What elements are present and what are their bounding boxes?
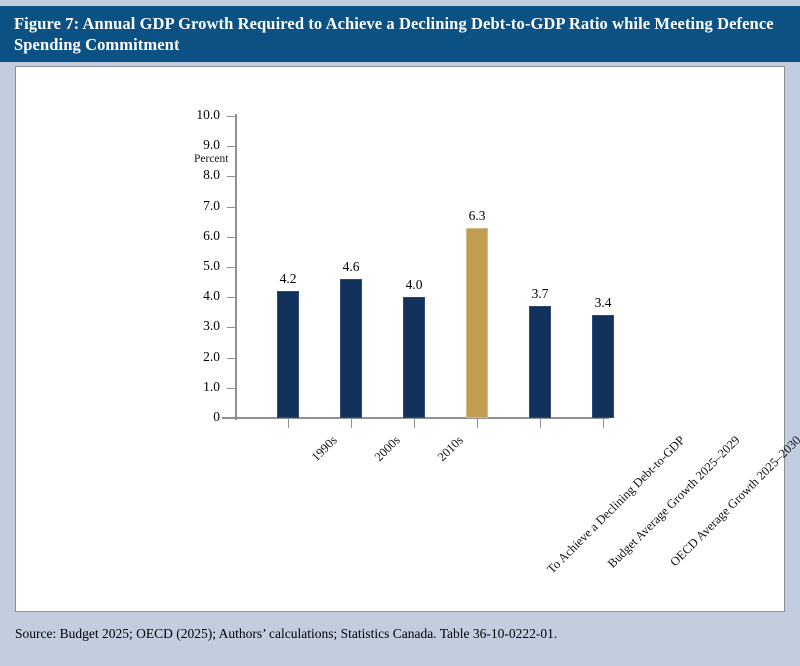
y-axis-tick xyxy=(227,358,235,359)
y-axis-tick-label: 3.0 xyxy=(168,318,220,334)
y-axis-tick-label: 7.0 xyxy=(168,198,220,214)
bar-value-label: 4.6 xyxy=(321,259,381,275)
y-axis-tick xyxy=(227,207,235,208)
y-axis-tick xyxy=(227,146,235,147)
y-axis-tick xyxy=(227,418,235,419)
x-axis-category-label: 1990s xyxy=(309,433,341,465)
x-axis-category-label: 2010s xyxy=(435,433,467,465)
y-axis-tick xyxy=(227,116,235,117)
y-axis-tick xyxy=(227,267,235,268)
y-axis-tick-label: 10.0 xyxy=(168,107,220,123)
y-axis-tick xyxy=(227,388,235,389)
bar xyxy=(277,291,299,418)
bar-value-label: 4.0 xyxy=(384,277,444,293)
plot-area: Percent 01.02.03.04.05.06.07.08.09.010.0… xyxy=(16,67,784,611)
y-axis-tick-label: 4.0 xyxy=(168,288,220,304)
bar-value-label: 3.4 xyxy=(573,295,633,311)
x-axis-category-label: 2000s xyxy=(372,433,404,465)
y-axis-tick xyxy=(227,237,235,238)
figure-container: Figure 7: Annual GDP Growth Required to … xyxy=(0,0,800,666)
y-axis-tick-label: 1.0 xyxy=(168,379,220,395)
x-axis-tick xyxy=(288,419,289,428)
y-axis-tick xyxy=(227,176,235,177)
y-axis-tick-label: 9.0 xyxy=(168,137,220,153)
x-axis-tick xyxy=(603,419,604,428)
y-axis-line xyxy=(235,114,237,420)
chart-panel: Percent 01.02.03.04.05.06.07.08.09.010.0… xyxy=(15,66,785,612)
bar xyxy=(403,297,425,418)
source-note: Source: Budget 2025; OECD (2025); Author… xyxy=(15,626,557,642)
bar-value-label: 4.2 xyxy=(258,271,318,287)
y-axis-tick-label: 8.0 xyxy=(168,167,220,183)
y-axis-tick xyxy=(227,297,235,298)
source-band: Source: Budget 2025; OECD (2025); Author… xyxy=(0,617,800,658)
y-axis-tick-label: 2.0 xyxy=(168,349,220,365)
x-axis-tick xyxy=(351,419,352,428)
bar-value-label: 3.7 xyxy=(510,286,570,302)
figure-title-band: Figure 7: Annual GDP Growth Required to … xyxy=(0,6,800,62)
x-axis-tick xyxy=(477,419,478,428)
bar xyxy=(529,306,551,418)
bar xyxy=(592,315,614,418)
x-axis-tick xyxy=(414,419,415,428)
y-axis-tick xyxy=(227,327,235,328)
y-axis-tick-label: 5.0 xyxy=(168,258,220,274)
x-axis-tick xyxy=(540,419,541,428)
y-axis-tick-label: 6.0 xyxy=(168,228,220,244)
y-axis-tick-label: 0 xyxy=(168,409,220,425)
bar xyxy=(466,228,488,418)
figure-title: Figure 7: Annual GDP Growth Required to … xyxy=(14,13,786,55)
bar xyxy=(340,279,362,418)
x-axis-category-label: OECD Average Growth 2025–2030 xyxy=(667,433,800,570)
y-axis-unit-label: Percent xyxy=(194,153,228,165)
bar-value-label: 6.3 xyxy=(447,208,507,224)
